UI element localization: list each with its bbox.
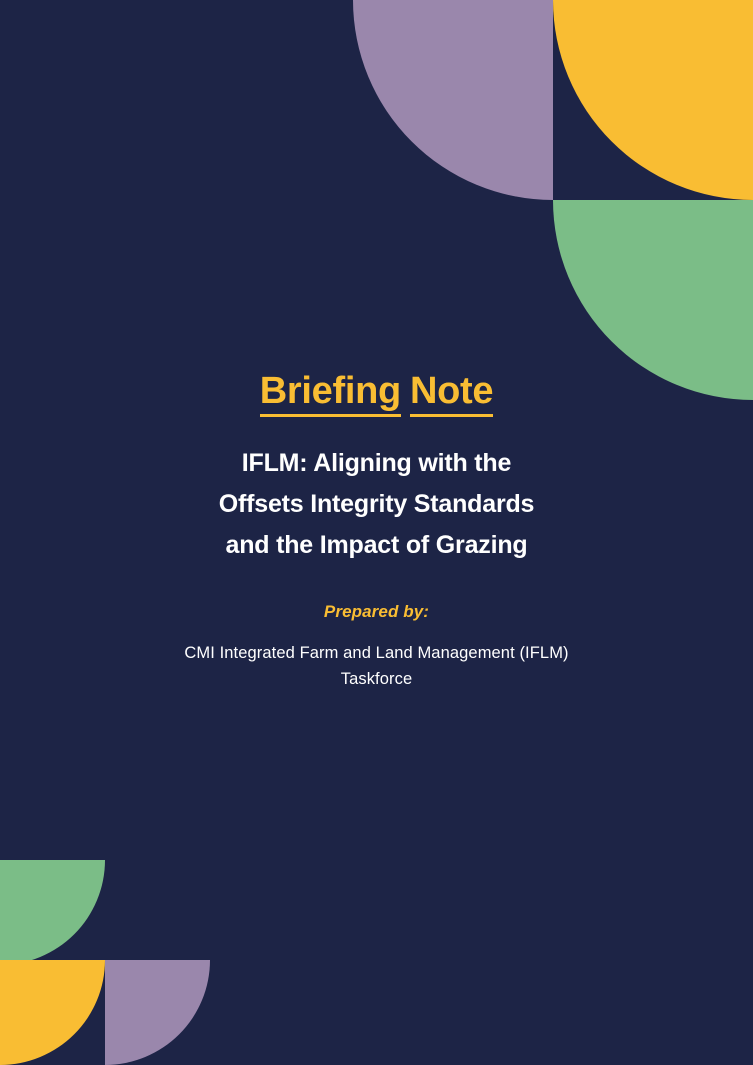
cover-text-block: BriefingNote IFLM: Aligning with the Off… [0,0,753,692]
prepared-by-organization-line: Taskforce [0,666,753,692]
decor-green-quarter-circle-bottom-left [0,860,105,965]
page-title-word-2: Note [410,372,493,417]
prepared-by-organization-line: CMI Integrated Farm and Land Management … [0,640,753,666]
document-subtitle: IFLM: Aligning with the Offsets Integrit… [0,443,753,566]
prepared-by-organization: CMI Integrated Farm and Land Management … [0,640,753,692]
page-title: BriefingNote [0,372,753,417]
page-title-word-1: Briefing [260,372,401,417]
prepared-by-label: Prepared by: [0,602,753,622]
document-subtitle-line: IFLM: Aligning with the [0,443,753,484]
decor-purple-quarter-circle-bottom-left [105,960,210,1065]
decor-yellow-quarter-circle-bottom-left [0,960,105,1065]
document-subtitle-line: Offsets Integrity Standards [0,484,753,525]
document-subtitle-line: and the Impact of Grazing [0,525,753,566]
cover-page: BriefingNote IFLM: Aligning with the Off… [0,0,753,1065]
